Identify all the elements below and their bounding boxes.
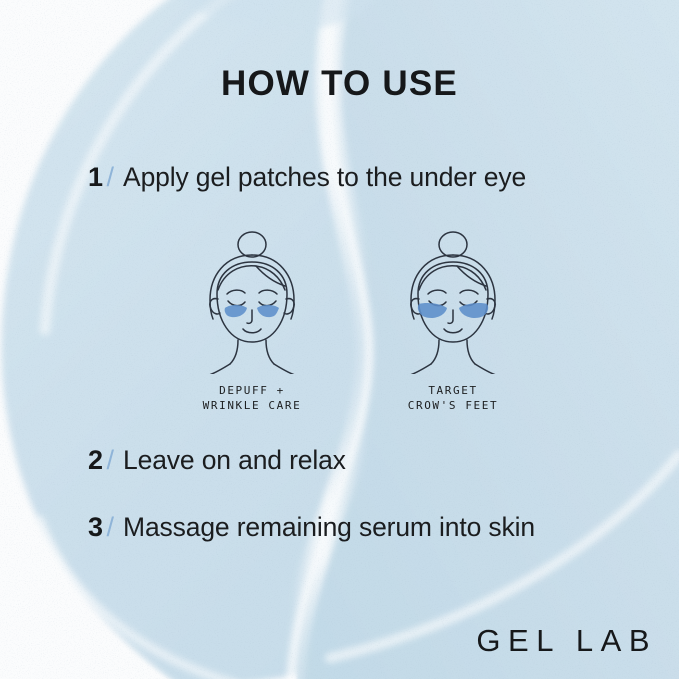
step-separator-3: / [107,512,115,543]
illustration-face-crows-feet: TARGET CROW'S FEET [378,224,528,413]
illustration-face-depuff: DEPUFF + WRINKLE CARE [177,224,327,413]
step-separator-1: / [107,162,115,193]
step-number-2: 2 [88,445,104,476]
step-item-2: 2 / Leave on and relax [88,445,346,476]
page-title: HOW TO USE [0,64,679,104]
step-item-1: 1 / Apply gel patches to the under eye [88,162,526,193]
step-text-1: Apply gel patches to the under eye [123,162,526,193]
step-number-3: 3 [88,512,104,543]
step-item-3: 3 / Massage remaining serum into skin [88,512,535,543]
illustration-caption-depuff: DEPUFF + WRINKLE CARE [177,383,327,413]
step-number-1: 1 [88,162,104,193]
brand-logo: GEL LAB [476,623,657,659]
step-separator-2: / [107,445,115,476]
step-text-3: Massage remaining serum into skin [123,512,535,543]
face-depuff-icon [177,224,327,374]
step-text-2: Leave on and relax [123,445,346,476]
face-crows-feet-icon [378,224,528,374]
illustration-caption-crows-feet: TARGET CROW'S FEET [378,383,528,413]
how-to-use-infographic: HOW TO USE 1 / Apply gel patches to the … [0,0,679,679]
